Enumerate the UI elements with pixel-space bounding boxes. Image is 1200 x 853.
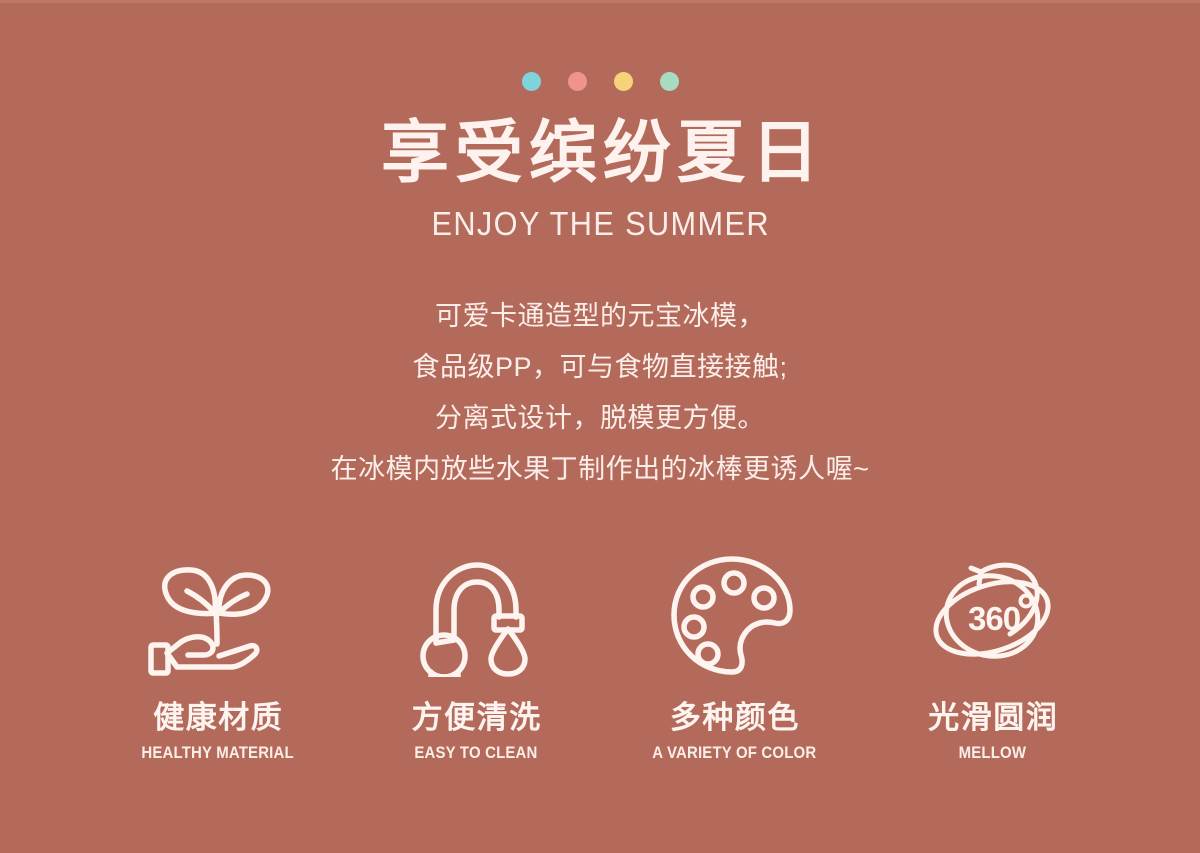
- feature-label-en: HEALTHY MATERIAL: [141, 742, 293, 763]
- feature-item-mellow: 360 光滑圆润 MELLOW: [875, 556, 1110, 763]
- description-line: 食品级PP，可与食物直接接触;: [0, 342, 1200, 393]
- dot-pink: [568, 72, 587, 91]
- headline-english: ENJOY THE SUMMER: [42, 203, 1158, 245]
- feature-label-cn: 多种颜色: [668, 699, 800, 736]
- feature-label-en: MELLOW: [959, 742, 1027, 763]
- dot-cyan: [522, 72, 541, 91]
- decorative-dot-row: [0, 72, 1200, 91]
- feature-item-easy-to-clean: 方便清洗 EASY TO CLEAN: [358, 556, 593, 763]
- headline-chinese: 享受缤纷夏日: [0, 112, 1200, 194]
- feature-row: 健康材质 HEALTHY MATERIAL: [100, 556, 1110, 763]
- feature-label-en: EASY TO CLEAN: [414, 742, 537, 763]
- feature-label-en: A VARIETY OF COLOR: [652, 742, 816, 763]
- dot-yellow: [614, 72, 633, 91]
- feature-item-variety-of-color: 多种颜色 A VARIETY OF COLOR: [617, 556, 852, 763]
- paint-palette-icon: [670, 556, 798, 676]
- description-line: 可爱卡通造型的元宝冰模，: [0, 291, 1200, 342]
- feature-label-cn: 光滑圆润: [927, 699, 1059, 736]
- feature-item-healthy-material: 健康材质 HEALTHY MATERIAL: [100, 556, 335, 763]
- description-line: 在冰模内放些水果丁制作出的冰棒更诱人喔~: [0, 444, 1200, 495]
- description-line: 分离式设计，脱模更方便。: [0, 393, 1200, 444]
- hand-holding-plant-icon: [143, 556, 293, 676]
- feature-label-cn: 健康材质: [152, 699, 284, 736]
- svg-text:360: 360: [968, 600, 1020, 637]
- top-edge-hairline: [0, 0, 1200, 3]
- promo-banner: 享受缤纷夏日 ENJOY THE SUMMER 可爱卡通造型的元宝冰模， 食品级…: [0, 0, 1200, 853]
- faucet-water-drop-icon: [411, 556, 541, 676]
- rotate-360-icon: 360: [922, 556, 1062, 676]
- description-block: 可爱卡通造型的元宝冰模， 食品级PP，可与食物直接接触; 分离式设计，脱模更方便…: [0, 291, 1200, 495]
- dot-mint: [660, 72, 679, 91]
- feature-label-cn: 方便清洗: [410, 699, 542, 736]
